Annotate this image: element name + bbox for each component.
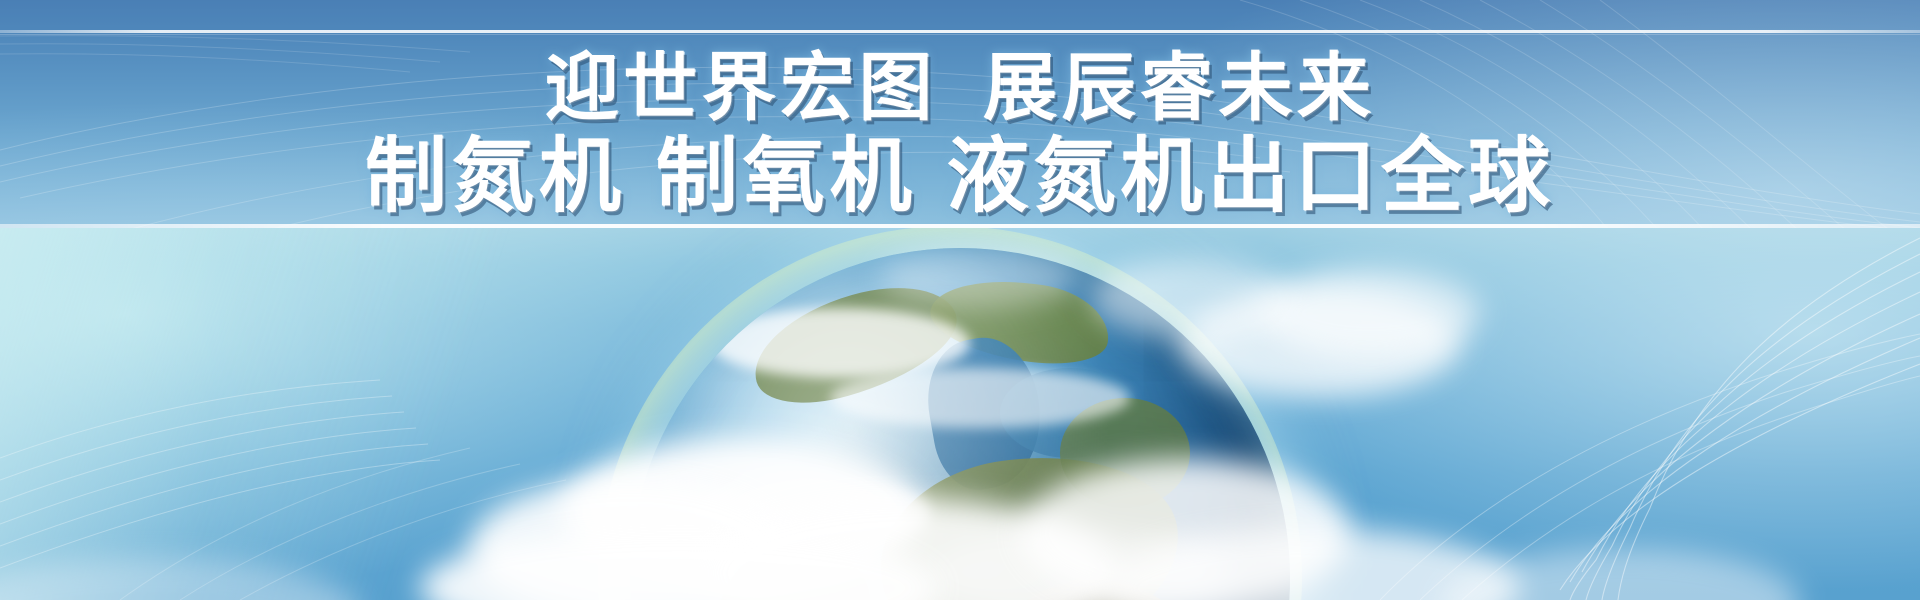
band-divider [0, 224, 1920, 228]
top-divider-line-secondary [0, 34, 1920, 35]
promo-banner: 迎世界宏图展辰睿未来 制氮机制氧机液氮机出口全球 [0, 0, 1920, 600]
headline-line-2: 制氮机制氧机液氮机出口全球 [0, 136, 1920, 218]
cloud [880, 248, 1080, 308]
cloud [1090, 258, 1290, 338]
top-divider-line [0, 30, 1920, 33]
cloud [1440, 548, 1800, 600]
headline-line1-part2: 展辰睿未来 [983, 48, 1375, 130]
cloud [1260, 268, 1480, 358]
headline-line2-part1: 制氮机 [365, 131, 626, 222]
headline-line2-part3: 液氮机出口全球 [947, 131, 1555, 222]
headline-line2-part2: 制氧机 [656, 131, 917, 222]
headline-line-1: 迎世界宏图展辰睿未来 [0, 52, 1920, 126]
cloud [0, 558, 360, 600]
headline-line1-part1: 迎世界宏图 [545, 48, 937, 130]
scene-background [0, 228, 1920, 600]
cloud-layer [0, 228, 1920, 600]
